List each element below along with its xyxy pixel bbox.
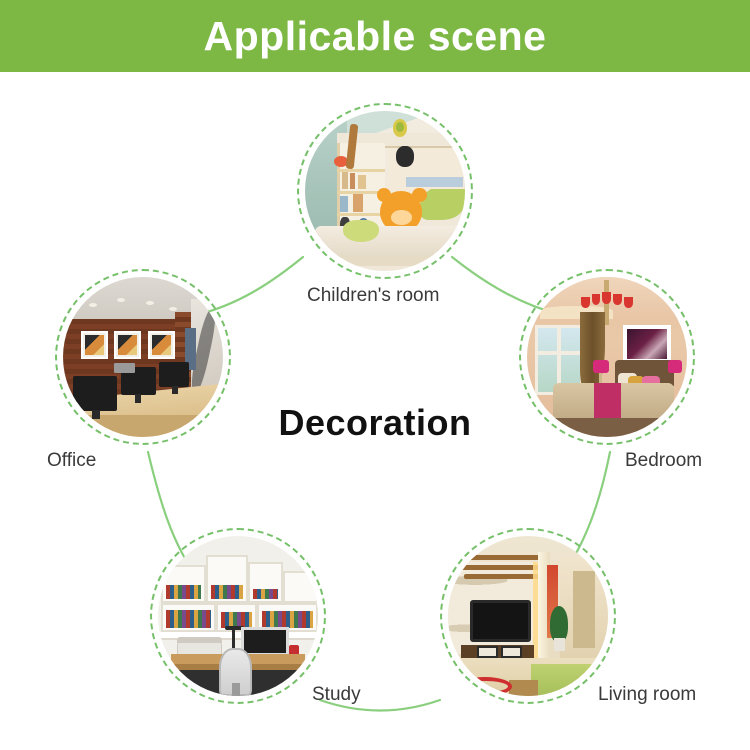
study-circle [150, 528, 326, 704]
scene-label-office: Office [47, 450, 96, 472]
living-room-photo [448, 536, 608, 696]
scene-diagram: Children's room [0, 72, 750, 750]
scene-living-room[interactable] [440, 528, 616, 704]
scene-label-bedroom: Bedroom [625, 450, 702, 472]
study-photo [158, 536, 318, 696]
children-room-circle [297, 103, 473, 279]
scene-children-room[interactable] [297, 103, 473, 279]
scene-label-living-room: Living room [598, 684, 696, 706]
living-room-circle [440, 528, 616, 704]
children-room-photo [305, 111, 465, 271]
scene-label-children-room: Children's room [307, 285, 439, 307]
scene-study[interactable] [150, 528, 326, 704]
page-title: Applicable scene [204, 13, 547, 60]
scene-label-study: Study [312, 684, 361, 706]
center-caption: Decoration [0, 402, 750, 444]
header-band: Applicable scene [0, 0, 750, 72]
